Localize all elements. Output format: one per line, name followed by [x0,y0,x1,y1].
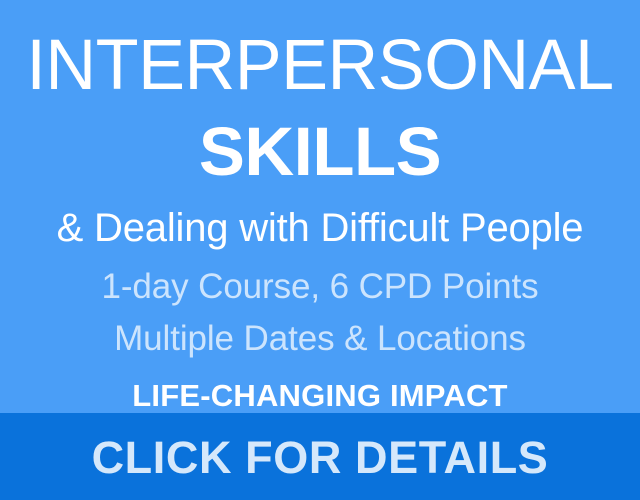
banner-message-block: INTERPERSONAL SKILLS & Dealing with Diff… [0,0,640,413]
impact-statement: LIFE-CHANGING IMPACT [0,380,640,411]
advertisement-banner: INTERPERSONAL SKILLS & Dealing with Diff… [0,0,640,500]
cta-label: CLICK FOR DETAILS [92,435,549,480]
banner-subtitle: & Dealing with Difficult People [0,208,640,248]
course-detail-dates: Multiple Dates & Locations [0,321,640,356]
course-detail-duration: 1-day Course, 6 CPD Points [0,269,640,304]
click-for-details-button[interactable]: CLICK FOR DETAILS [0,413,640,500]
headline-primary: INTERPERSONAL [3,30,637,101]
headline-secondary: SKILLS [0,117,640,186]
